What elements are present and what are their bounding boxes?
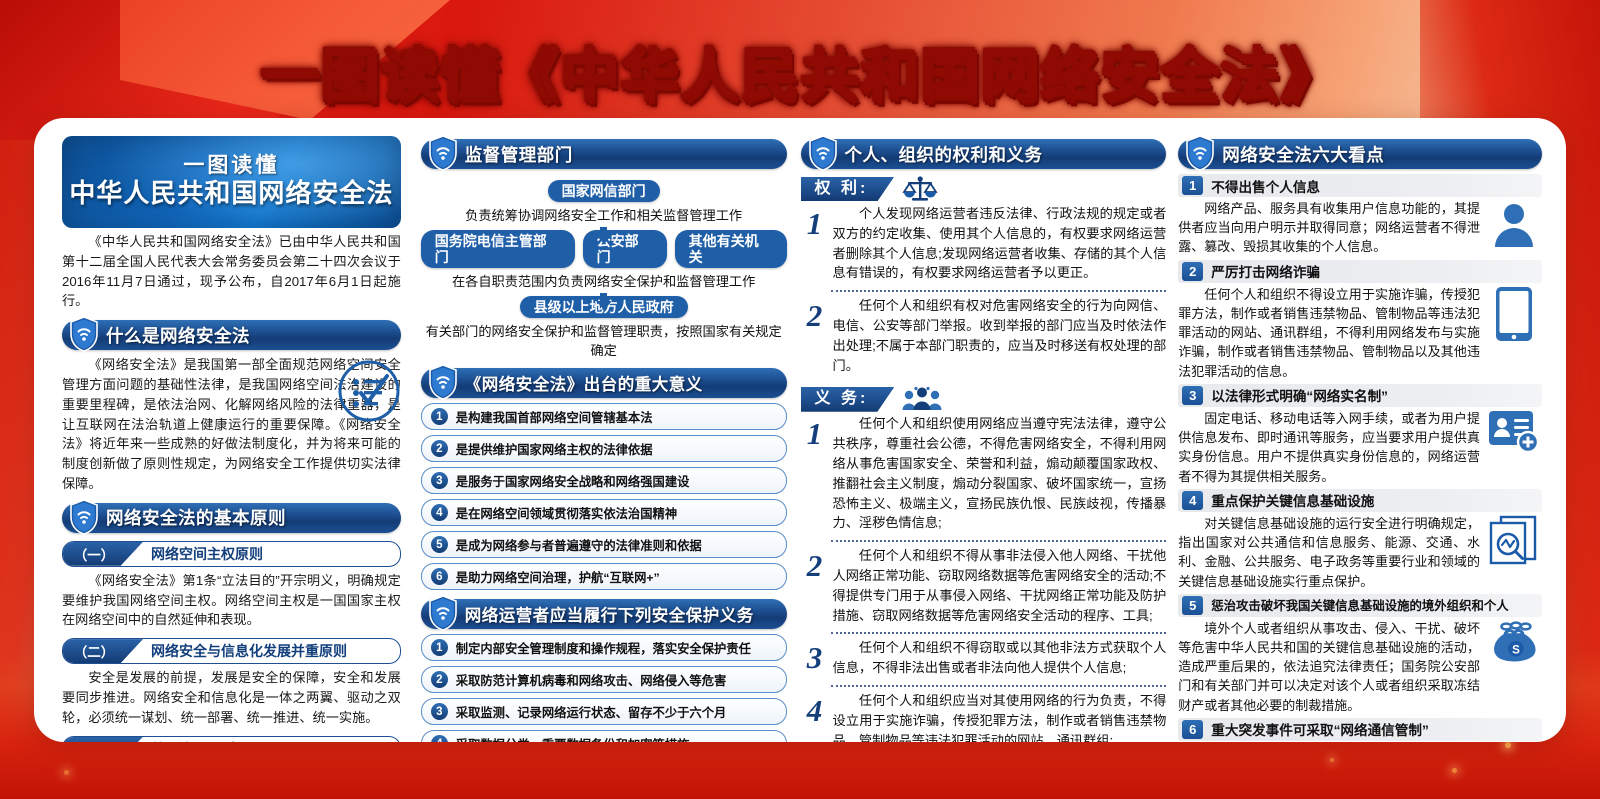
section-header-what-is-law: 什么是网络安全法	[62, 320, 401, 350]
significance-list: 1 是构建我国首部网络空间管辖基本法 2 是提供维护国家网络主权的法律依据 3 …	[421, 403, 787, 590]
group-people-icon	[900, 386, 944, 412]
item-number: 1	[431, 639, 448, 656]
section-header-six-highlights: 网络安全法六大看点	[1178, 139, 1542, 169]
highlight-number: 4	[1182, 491, 1203, 510]
flow-caption-1: 负责统筹协调网络安全工作和相关监督管理工作	[421, 205, 787, 224]
shield-wifi-icon	[428, 364, 458, 400]
item-number: 1	[431, 408, 448, 425]
shield-wifi-icon	[808, 135, 838, 171]
column-overview: 一图读懂 中华人民共和国网络安全法 《中华人民共和国网络安全法》已由中华人民共和…	[48, 130, 413, 730]
list-item: 3 任何个人和组织不得窃取或以其他非法方式获取个人信息，不得非法出售或者非法向他…	[801, 638, 1167, 682]
list-item: 6 是助力网络空间治理，护航“互联网+”	[421, 563, 787, 590]
item-text: 任何个人和组织不得窃取或以其他非法方式获取个人信息，不得非法出售或者非法向他人提…	[827, 638, 1167, 678]
item-number: 2	[431, 440, 448, 457]
list-item: 3 采取监测、记录网络运行状态、留存不少于六个月	[421, 698, 787, 725]
highlight-item: 2 严厉打击网络诈骗 任何个人和组织不得设立用于实施诈骗，传授犯罪方法，制作或者…	[1178, 260, 1542, 381]
bokeh-dot	[64, 770, 69, 775]
scales-of-justice-icon	[900, 174, 940, 204]
highlight-header: 6 重大突发事件可采取“网络通信管制”	[1178, 718, 1542, 741]
highlight-header: 1 不得出售个人信息	[1178, 174, 1542, 197]
item-text: 任何个人和组织应当对其使用网络的行为负责，不得设立用于实施诈骗，传授犯罪方法，制…	[827, 691, 1167, 742]
highlight-body: 任何个人和组织不得设立用于实施诈骗，传授犯罪方法，制作或者销售违禁物品、管制物品…	[1178, 285, 1480, 381]
tablet-icon	[1486, 285, 1542, 343]
section-title: 《网络安全法》出台的重大意义	[465, 371, 703, 395]
list-item: 1 制定内部安全管理制度和操作规程，落实安全保护责任	[421, 634, 787, 661]
item-number: 3	[431, 703, 448, 720]
section-title: 网络安全法的基本原则	[106, 505, 286, 530]
list-item: 1 是构建我国首部网络空间管辖基本法	[421, 403, 787, 430]
highlight-body: 境外个人或者组织从事攻击、侵入、干扰、破坏等危害中华人民共和国的关键信息基础设施…	[1178, 619, 1480, 715]
intro-paragraph: 《中华人民共和国网络安全法》已由中华人民共和国第十二届全国人民代表大会常务委员会…	[62, 232, 401, 311]
flow-caption-2: 在各自职责范围内负责网络安全保护和监督管理工作	[421, 271, 787, 290]
shield-wifi-icon	[428, 595, 458, 631]
list-item: 5 是成为网络参与者普遍遵守的法律准则和依据	[421, 531, 787, 558]
person-icon	[1486, 199, 1542, 249]
highlight-title: 重点保护关键信息基础设施	[1211, 490, 1374, 510]
highlight-header: 2 严厉打击网络诈骗	[1178, 260, 1542, 283]
highlight-header: 5 惩治攻击破坏我国关键信息基础设施的境外组织和个人	[1178, 594, 1542, 617]
hero-line-1: 一图读懂	[183, 154, 279, 177]
item-text: 是成为网络参与者普遍遵守的法律准则和依据	[456, 536, 702, 554]
highlight-item: 5 惩治攻击破坏我国关键信息基础设施的境外组织和个人 境外个人或者组织从事攻击、…	[1178, 594, 1542, 715]
item-text: 任何个人和组织有权对危害网络安全的行为向网信、电信、公安等部门举报。收到举报的部…	[827, 296, 1167, 375]
shield-wifi-icon	[1185, 135, 1215, 171]
hero-line-2: 中华人民共和国网络安全法	[69, 177, 393, 210]
highlight-title: 严厉打击网络诈骗	[1211, 261, 1320, 281]
operator-duty-list: 1 制定内部安全管理制度和操作规程，落实安全保护责任 2 采取防范计算机病毒和网…	[421, 634, 787, 742]
principle-title: 网络空间主权原则	[151, 544, 263, 564]
duties-label: 义 务:	[801, 387, 895, 412]
highlight-number: 6	[1182, 720, 1203, 739]
svg-text:S: S	[1512, 644, 1520, 656]
item-text: 是在网络空间领域贯彻落实依法治国精神	[456, 504, 677, 522]
highlight-number: 3	[1182, 386, 1203, 405]
bokeh-dot	[1452, 768, 1457, 773]
principle-title: 共同治理原则	[151, 739, 235, 742]
item-text: 个人发现网络运营者违反法律、行政法规的规定或者双方的约定收集、使用其个人信息的，…	[827, 204, 1167, 283]
bokeh-dot	[1505, 742, 1511, 748]
highlight-item: 6 重大突发事件可采取“网络通信管制” 因维护国家安全和社会公共秩序，处置重大突…	[1178, 718, 1542, 742]
divider	[831, 685, 1167, 687]
principle-number: （三）	[63, 737, 143, 742]
item-text: 制定内部安全管理制度和操作规程，落实安全保护责任	[456, 639, 751, 657]
item-number: 3	[431, 472, 448, 489]
item-text: 任何个人和组织不得从事非法侵入他人网络、干扰他人网络正常功能、窃取网络数据等危害…	[827, 546, 1167, 625]
highlight-body: 对关键信息基础设施的运行安全进行明确规定，指出国家对公共通信和信息服务、能源、交…	[1178, 514, 1480, 591]
item-number: 4	[431, 735, 448, 742]
highlight-header: 4 重点保护关键信息基础设施	[1178, 489, 1542, 512]
duties-label-row: 义 务:	[801, 386, 1167, 412]
item-number: 1	[801, 414, 827, 454]
highlight-number: 2	[1182, 262, 1203, 281]
item-text: 是服务于国家网络安全战略和网络强国建设	[456, 472, 690, 490]
highlight-item: 3 以法律形式明确“网络实名制” 固定电话、移动电话等入网手续，或者为用户提供信…	[1178, 384, 1542, 486]
list-item: 4 是在网络空间领域贯彻落实依法治国精神	[421, 499, 787, 526]
section-title: 个人、组织的权利和义务	[845, 142, 1043, 167]
highlight-number: 5	[1182, 596, 1203, 615]
item-text: 采取监测、记录网络运行状态、留存不少于六个月	[456, 703, 727, 721]
principle-header-3: （三） 共同治理原则	[62, 736, 401, 742]
list-item: 1 任何个人和组织使用网络应当遵守宪法法律，遵守公共秩序，尊重社会公德，不得危害…	[801, 414, 1167, 537]
section-header-supervision: 监督管理部门	[421, 139, 787, 169]
list-item: 2 采取防范计算机病毒和网络攻击、网络侵入等危害	[421, 666, 787, 693]
section-header-rights-duties: 个人、组织的权利和义务	[801, 139, 1167, 169]
principle-number: （一）	[63, 542, 143, 566]
item-number: 2	[801, 296, 827, 336]
principle-number: （二）	[63, 639, 143, 663]
divider	[831, 632, 1167, 634]
section-header-significance: 《网络安全法》出台的重大意义	[421, 368, 787, 398]
item-text: 采取数据分类、重要数据备份和加密等措施	[456, 735, 690, 742]
item-number: 1	[801, 204, 827, 244]
money-bag-icon: S	[1486, 619, 1542, 663]
content-card: 一图读懂 中华人民共和国网络安全法 《中华人民共和国网络安全法》已由中华人民共和…	[34, 118, 1566, 742]
principle-body-2: 安全是发展的前提，发展是安全的保障，安全和发展要同步推进。网络安全和信息化是一体…	[62, 668, 401, 727]
highlight-title: 以法律形式明确“网络实名制”	[1211, 385, 1388, 405]
principle-header-1: （一） 网络空间主权原则	[62, 541, 401, 567]
section-title: 网络运营者应当履行下列安全保护义务	[465, 602, 754, 626]
item-text: 是提供维护国家网络主权的法律依据	[456, 440, 653, 458]
highlight-title: 重大突发事件可采取“网络通信管制”	[1211, 719, 1429, 739]
flow-caption-3: 有关部门的网络安全保护和监督管理职责，按照国家有关规定确定	[421, 321, 787, 359]
rights-label: 权 利:	[801, 177, 895, 202]
divider	[831, 290, 1167, 292]
principle-title: 网络安全与信息化发展并重原则	[151, 641, 347, 661]
highlight-body: 网络产品、服务具有收集用户信息功能的，其提供者应当向用户明示并取得同意；网络运营…	[1178, 199, 1480, 257]
shield-wifi-icon	[428, 135, 458, 171]
item-number: 5	[431, 536, 448, 553]
item-number: 3	[801, 638, 827, 678]
section-header-operator-duties: 网络运营者应当履行下列安全保护义务	[421, 599, 787, 629]
highlight-title: 惩治攻击破坏我国关键信息基础设施的境外组织和个人	[1211, 596, 1508, 614]
shield-wifi-icon	[69, 499, 99, 535]
bokeh-dot	[1330, 758, 1334, 762]
monitor-chart-icon	[1486, 514, 1542, 566]
item-number: 2	[431, 671, 448, 688]
item-number: 2	[801, 546, 827, 586]
item-text: 是助力网络空间治理，护航“互联网+”	[456, 568, 660, 586]
highlight-number: 1	[1182, 176, 1203, 195]
id-card-add-icon	[1486, 409, 1542, 455]
item-number: 4	[801, 691, 827, 731]
rights-list: 1 个人发现网络运营者违反法律、行政法规的规定或者双方的约定收集、使用其个人信息…	[801, 204, 1167, 379]
page-title: 一图读懂《中华人民共和国网络安全法》	[0, 46, 1600, 104]
highlight-header: 3 以法律形式明确“网络实名制”	[1178, 384, 1542, 407]
list-item: 4 任何个人和组织应当对其使用网络的行为负责，不得设立用于实施诈骗，传授犯罪方法…	[801, 691, 1167, 742]
highlight-body: 固定电话、移动电话等入网手续，或者为用户提供信息发布、即时通讯等服务，应当要求用…	[1178, 409, 1480, 486]
duties-list: 1 任何个人和组织使用网络应当遵守宪法法律，遵守公共秩序，尊重社会公德，不得危害…	[801, 414, 1167, 742]
list-item: 2 任何个人和组织不得从事非法侵入他人网络、干扰他人网络正常功能、窃取网络数据等…	[801, 546, 1167, 629]
list-item: 4 采取数据分类、重要数据备份和加密等措施	[421, 730, 787, 742]
principle-body-1: 《网络安全法》第1条“立法目的”开宗明义，明确规定要维护我国网络空间主权。网络空…	[62, 571, 401, 630]
column-rights-duties: 个人、组织的权利和义务 权 利: 1 个人发现网络运营者违	[795, 130, 1173, 730]
item-text: 采取防范计算机病毒和网络攻击、网络侵入等危害	[456, 671, 727, 689]
item-text: 是构建我国首部网络空间管辖基本法	[456, 408, 653, 426]
section-title: 监督管理部门	[465, 142, 573, 167]
checklist-icon	[337, 359, 401, 423]
supervision-flowchart: 国家网信部门 负责统筹协调网络安全工作和相关监督管理工作 国务院电信主管部门 公…	[421, 174, 787, 359]
rights-label-row: 权 利:	[801, 176, 1167, 202]
section-title: 网络安全法六大看点	[1222, 142, 1384, 167]
highlight-item: 4 重点保护关键信息基础设施 对关键信息基础设施的运行安全进行明确规定，指出国家…	[1178, 489, 1542, 591]
flow-node-cyberspace-admin: 国家网信部门	[548, 180, 660, 202]
divider	[831, 540, 1167, 542]
flow-node-telecom: 国务院电信主管部门	[421, 230, 575, 268]
column-six-highlights: 网络安全法六大看点 1 不得出售个人信息 网络产品、服务具有收集用户信息功能的，…	[1172, 130, 1552, 730]
item-text: 任何个人和组织使用网络应当遵守宪法法律，遵守公共秩序，尊重社会公德，不得危害网络…	[827, 414, 1167, 533]
item-number: 6	[431, 568, 448, 585]
section-title: 什么是网络安全法	[106, 323, 250, 348]
highlight-title: 不得出售个人信息	[1211, 176, 1320, 196]
flow-node-other-agencies: 其他有关机关	[675, 230, 787, 268]
highlight-item: 1 不得出售个人信息 网络产品、服务具有收集用户信息功能的，其提供者应当向用户明…	[1178, 174, 1542, 257]
column-supervision: 监督管理部门 国家网信部门 负责统筹协调网络安全工作和相关监督管理工作 国务院电…	[413, 130, 795, 730]
list-item: 3 是服务于国家网络安全战略和网络强国建设	[421, 467, 787, 494]
principle-header-2: （二） 网络安全与信息化发展并重原则	[62, 638, 401, 664]
shield-wifi-icon	[69, 316, 99, 352]
list-item: 2 是提供维护国家网络主权的法律依据	[421, 435, 787, 462]
hero-banner: 一图读懂 中华人民共和国网络安全法	[62, 136, 401, 228]
list-item: 1 个人发现网络运营者违反法律、行政法规的规定或者双方的约定收集、使用其个人信息…	[801, 204, 1167, 287]
item-number: 4	[431, 504, 448, 521]
section-header-basic-principles: 网络安全法的基本原则	[62, 503, 401, 533]
list-item: 2 任何个人和组织有权对危害网络安全的行为向网信、电信、公安等部门举报。收到举报…	[801, 296, 1167, 379]
